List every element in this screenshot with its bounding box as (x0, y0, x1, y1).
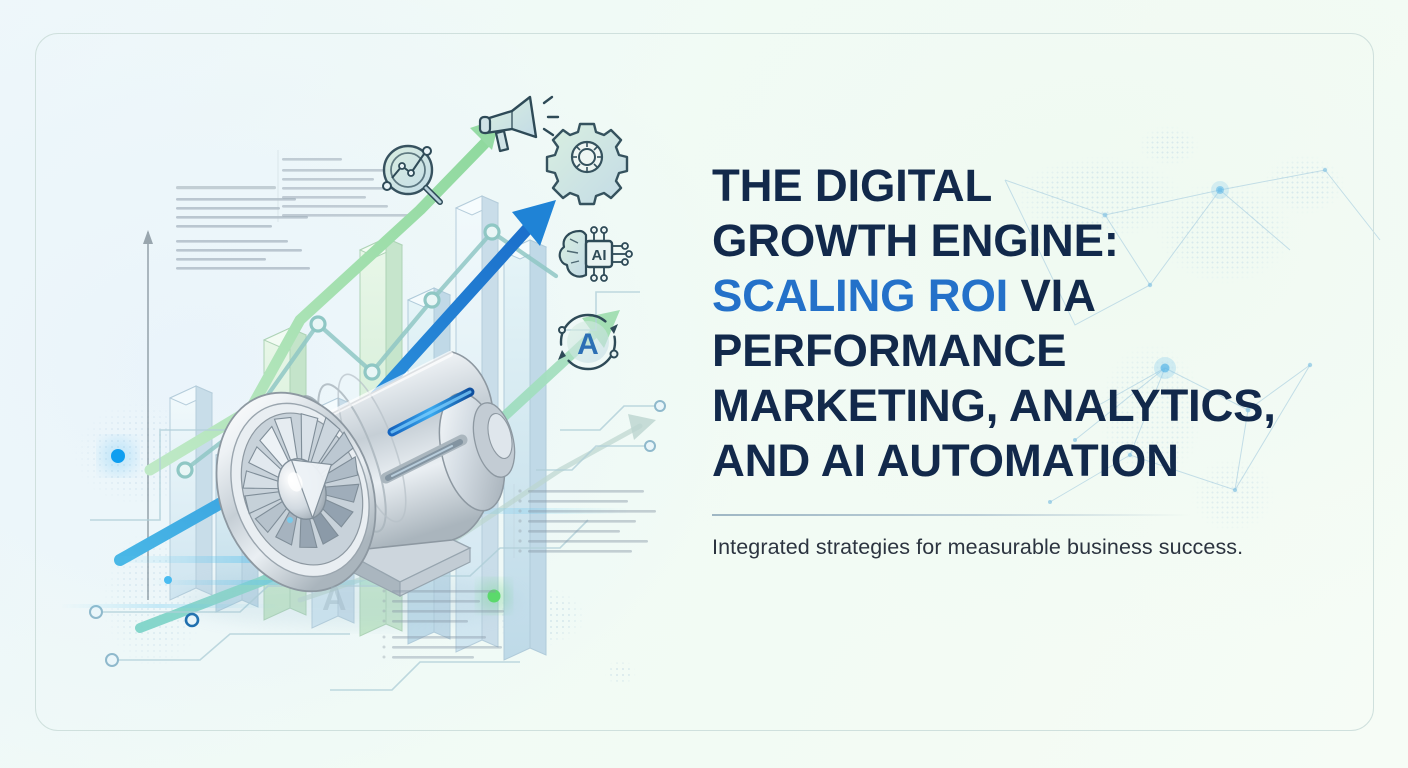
title-line-3-rest: VIA (1008, 270, 1096, 321)
gear-icon (547, 124, 627, 204)
automation-letter: A (577, 328, 599, 361)
blue-glow-dot (111, 449, 125, 463)
automation-watermark-letter: A (322, 580, 347, 618)
jet-engine-illustration (180, 352, 522, 628)
title-line-1: THE DIGITAL (712, 160, 992, 211)
hero-illustration: A (0, 0, 760, 768)
title-accent-phrase: SCALING ROI (712, 270, 1008, 321)
title-divider (712, 514, 1190, 516)
title-line-4: PERFORMANCE (712, 325, 1066, 376)
ai-chip-label: AI (592, 247, 607, 264)
magnifier-analytics-icon (383, 146, 440, 202)
circuit-node-highlight (186, 614, 198, 626)
bar-1 (170, 386, 212, 600)
title-line-2: GROWTH ENGINE: (712, 215, 1119, 266)
ai-brain-chip-icon: AI (560, 227, 632, 281)
slide-canvas: A (0, 0, 1408, 768)
page-title: THE DIGITAL GROWTH ENGINE: SCALING ROI V… (712, 158, 1332, 488)
title-line-5: MARKETING, ANALYTICS, (712, 380, 1276, 431)
hero-text-column: THE DIGITAL GROWTH ENGINE: SCALING ROI V… (712, 158, 1332, 561)
title-line-6: AND AI AUTOMATION (712, 435, 1179, 486)
subtitle: Integrated strategies for measurable bus… (712, 533, 1332, 561)
